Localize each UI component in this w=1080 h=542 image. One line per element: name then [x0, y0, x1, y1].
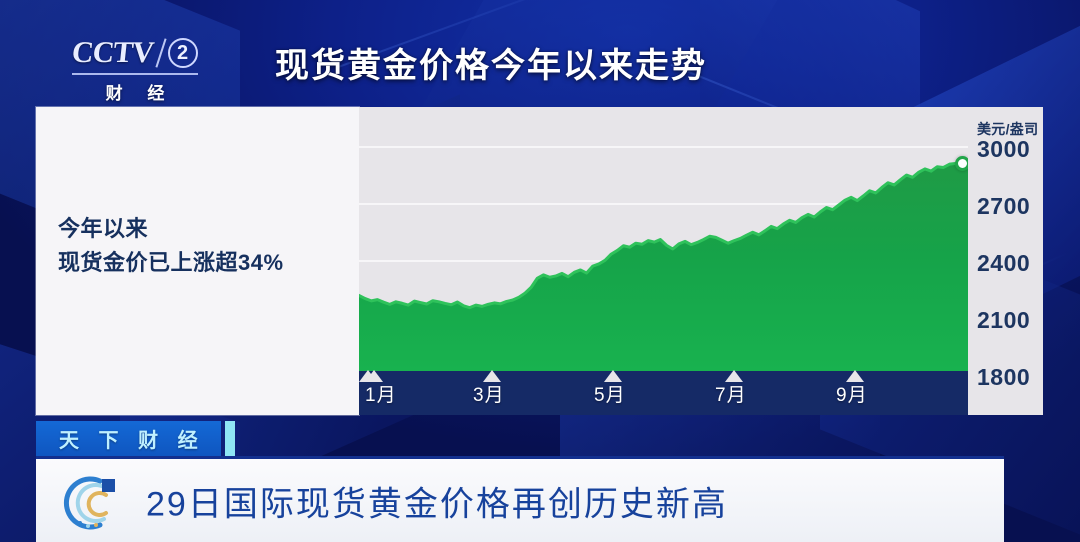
- y-axis-label-2700: 2700: [977, 193, 1030, 220]
- x-axis-label-5: 9月: [836, 380, 868, 407]
- callout-panel: 今年以来 现货金价已上涨超34%: [36, 107, 359, 415]
- y-axis-label-3000: 3000: [977, 136, 1030, 163]
- chart-plot-area: [359, 107, 968, 371]
- news-ticker: 29日国际现货黄金价格再创历史新高: [36, 456, 1004, 542]
- y-axis-label-1800: 1800: [977, 364, 1030, 391]
- x-axis-label-2: 3月: [473, 380, 505, 407]
- chart-y-axis: 美元/盎司 3000 2700 2400 2100 1800: [968, 107, 1043, 415]
- program-tag-label: 天 下 财 经: [52, 424, 205, 453]
- x-axis-label-4: 7月: [715, 380, 747, 407]
- callout-text: 今年以来 现货金价已上涨超34%: [58, 212, 284, 280]
- cctv-finance-swirl-icon: [60, 471, 122, 533]
- program-tag: 天 下 财 经: [36, 421, 235, 456]
- callout-line-2: 现货金价已上涨超34%: [58, 246, 284, 280]
- program-tag-accent: [225, 421, 235, 456]
- cctv-logo-slash-icon: [155, 38, 166, 67]
- price-area-series: [359, 107, 968, 371]
- news-ticker-text: 29日国际现货黄金价格再创历史新高: [146, 476, 728, 525]
- y-axis-label-2100: 2100: [977, 307, 1030, 334]
- x-axis-label-3: 5月: [594, 380, 626, 407]
- callout-line-1: 今年以来: [58, 212, 284, 246]
- page-title: 现货黄金价格今年以来走势: [275, 38, 707, 87]
- cctv-channel-number: 2: [168, 38, 198, 68]
- cctv2-logo-row: CCTV 2: [60, 36, 210, 70]
- cctv-wordmark: CCTV: [71, 36, 156, 70]
- gold-price-chart: 1月 3月 5月 7月 9月 美元/盎司 3000 2700 2400 2100…: [359, 107, 1043, 415]
- program-tag-box: 天 下 财 经: [36, 421, 221, 456]
- x-axis-label-1: 1月: [365, 380, 397, 407]
- broadcast-frame: CCTV 2 财 经 现货黄金价格今年以来走势 今年以来 现货金价已上涨超34%: [0, 0, 1080, 542]
- y-axis-label-2400: 2400: [977, 250, 1030, 277]
- cctv-channel-name: 财 经: [60, 79, 210, 104]
- chart-x-axis: 1月 3月 5月 7月 9月: [359, 371, 968, 415]
- latest-value-marker: [955, 156, 968, 171]
- cctv-logo-underline: [72, 73, 198, 75]
- cctv2-logo: CCTV 2 财 经: [60, 36, 210, 106]
